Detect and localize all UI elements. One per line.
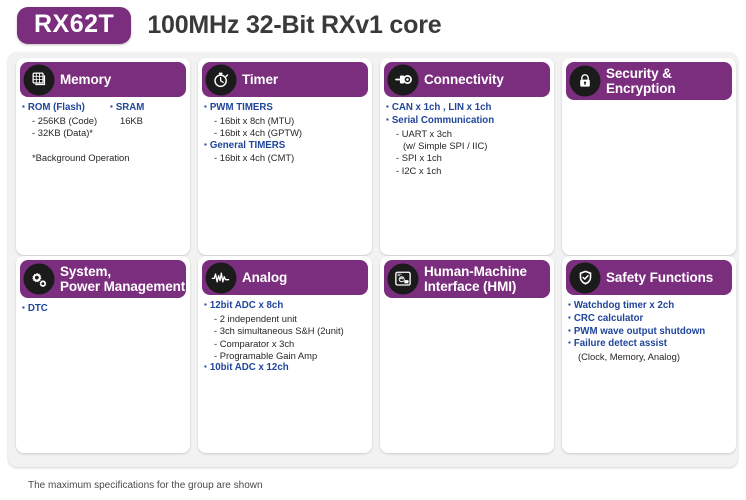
footnote: The maximum specifications for the group… (28, 480, 263, 491)
feature-line: Failure detect assist (568, 338, 732, 351)
card-body-connectivity: CAN x 1ch , LIN x 1chSerial Communicatio… (386, 102, 550, 251)
card-title-safety-functions: Safety Functions (606, 270, 713, 285)
card-header-memory: Memory (20, 62, 186, 97)
feature-line: 10bit ADC x 12ch (204, 362, 368, 375)
card-title-human-machine-interface: Human-MachineInterface (HMI) (424, 264, 527, 294)
feature-card-security-encryption[interactable]: Security &Encryption (562, 58, 736, 255)
shield-check-icon (571, 264, 599, 292)
feature-card-human-machine-interface[interactable]: Human-MachineInterface (HMI) (380, 256, 554, 453)
feature-card-safety-functions[interactable]: Safety FunctionsWatchdog timer x 2chCRC … (562, 256, 736, 453)
card-title-line: Power Management (60, 279, 185, 294)
gears-icon (25, 265, 53, 293)
feature-line: - 3ch simultaneous S&H (2unit) (204, 325, 368, 337)
feature-line: CAN x 1ch , LIN x 1ch (386, 102, 550, 115)
card-body-safety-functions: Watchdog timer x 2chCRC calculatorPWM wa… (568, 300, 732, 449)
feature-line: - 256KB (Code) (22, 115, 110, 127)
product-badge: RX62T (17, 7, 131, 44)
card-header-analog: Analog (202, 260, 368, 295)
card-row-bottom: System,Power ManagementDTC Analog12bit A… (8, 256, 738, 456)
memory-sram-column: SRAM16KB (110, 102, 180, 140)
feature-line: - SPI x 1ch (386, 152, 550, 164)
card-title-line: Interface (HMI) (424, 279, 527, 294)
card-title-line: Security & (606, 66, 676, 81)
card-body-memory: ROM (Flash)- 256KB (Code)- 32KB (Data)*S… (22, 102, 186, 251)
touchscreen-hand-icon (389, 265, 417, 293)
feature-line: 12bit ADC x 8ch (204, 300, 368, 313)
card-header-safety-functions: Safety Functions (566, 260, 732, 295)
stopwatch-icon (207, 66, 235, 94)
feature-line: CRC calculator (568, 313, 732, 326)
card-header-connectivity: Connectivity (384, 62, 550, 97)
card-row-top: MemoryROM (Flash)- 256KB (Code)- 32KB (D… (8, 58, 738, 258)
feature-line: - 16bit x 4ch (GPTW) (204, 127, 368, 139)
feature-card-system-power-management[interactable]: System,Power ManagementDTC (16, 256, 190, 453)
feature-panel: MemoryROM (Flash)- 256KB (Code)- 32KB (D… (8, 52, 738, 467)
feature-line: General TIMERS (204, 140, 368, 153)
feature-line: - 16bit x 4ch (CMT) (204, 152, 368, 164)
feature-card-memory[interactable]: MemoryROM (Flash)- 256KB (Code)- 32KB (D… (16, 58, 190, 255)
card-title-analog: Analog (242, 270, 287, 285)
feature-line: (w/ Simple SPI / IIC) (386, 140, 550, 152)
feature-line: ROM (Flash) (22, 102, 110, 115)
card-body-security-encryption (568, 105, 732, 251)
card-header-timer: Timer (202, 62, 368, 97)
memory-columns: ROM (Flash)- 256KB (Code)- 32KB (Data)*S… (22, 102, 186, 140)
feature-card-analog[interactable]: Analog12bit ADC x 8ch- 2 independent uni… (198, 256, 372, 453)
lock-icon (571, 67, 599, 95)
feature-line: - 2 independent unit (204, 313, 368, 325)
connector-plug-icon (389, 66, 417, 94)
feature-card-connectivity[interactable]: ConnectivityCAN x 1ch , LIN x 1chSerial … (380, 58, 554, 255)
feature-line: SRAM (110, 102, 180, 115)
card-header-system-power-management: System,Power Management (20, 260, 186, 298)
feature-line: - I2C x 1ch (386, 165, 550, 177)
card-title-line: Encryption (606, 81, 676, 96)
card-title-system-power-management: System,Power Management (60, 264, 185, 294)
waveform-icon (207, 264, 235, 292)
feature-line: - Comparator x 3ch (204, 338, 368, 350)
card-title-connectivity: Connectivity (424, 72, 504, 87)
feature-line: 16KB (110, 115, 180, 127)
memory-footnote: *Background Operation (22, 152, 186, 164)
card-title-line: Safety Functions (606, 270, 713, 285)
memory-chip-icon (25, 66, 53, 94)
spacer (22, 140, 186, 152)
feature-card-timer[interactable]: TimerPWM TIMERS- 16bit x 8ch (MTU)- 16bi… (198, 58, 372, 255)
card-title-line: Memory (60, 72, 111, 87)
page-title: 100MHz 32-Bit RXv1 core (147, 11, 441, 40)
card-title-line: Connectivity (424, 72, 504, 87)
card-title-line: Human-Machine (424, 264, 527, 279)
feature-line: - UART x 3ch (386, 128, 550, 140)
card-title-line: System, (60, 264, 185, 279)
card-body-human-machine-interface (386, 303, 550, 449)
feature-line: PWM wave output shutdown (568, 326, 732, 339)
card-title-memory: Memory (60, 72, 111, 87)
feature-line: - 16bit x 8ch (MTU) (204, 115, 368, 127)
card-body-system-power-management: DTC (22, 303, 186, 449)
card-title-line: Timer (242, 72, 278, 87)
feature-line: Serial Communication (386, 115, 550, 128)
title-bar: RX62T 100MHz 32-Bit RXv1 core (0, 0, 746, 50)
memory-rom-column: ROM (Flash)- 256KB (Code)- 32KB (Data)* (22, 102, 110, 140)
card-title-line: Analog (242, 270, 287, 285)
feature-line: - 32KB (Data)* (22, 127, 110, 139)
card-body-timer: PWM TIMERS- 16bit x 8ch (MTU)- 16bit x 4… (204, 102, 368, 251)
feature-line: (Clock, Memory, Analog) (568, 351, 732, 363)
card-header-security-encryption: Security &Encryption (566, 62, 732, 100)
feature-line: Watchdog timer x 2ch (568, 300, 732, 313)
card-title-timer: Timer (242, 72, 278, 87)
feature-line: PWM TIMERS (204, 102, 368, 115)
feature-line: - Programable Gain Amp (204, 350, 368, 362)
feature-line: DTC (22, 303, 186, 316)
card-header-human-machine-interface: Human-MachineInterface (HMI) (384, 260, 550, 298)
card-title-security-encryption: Security &Encryption (606, 66, 676, 96)
card-body-analog: 12bit ADC x 8ch- 2 independent unit- 3ch… (204, 300, 368, 449)
